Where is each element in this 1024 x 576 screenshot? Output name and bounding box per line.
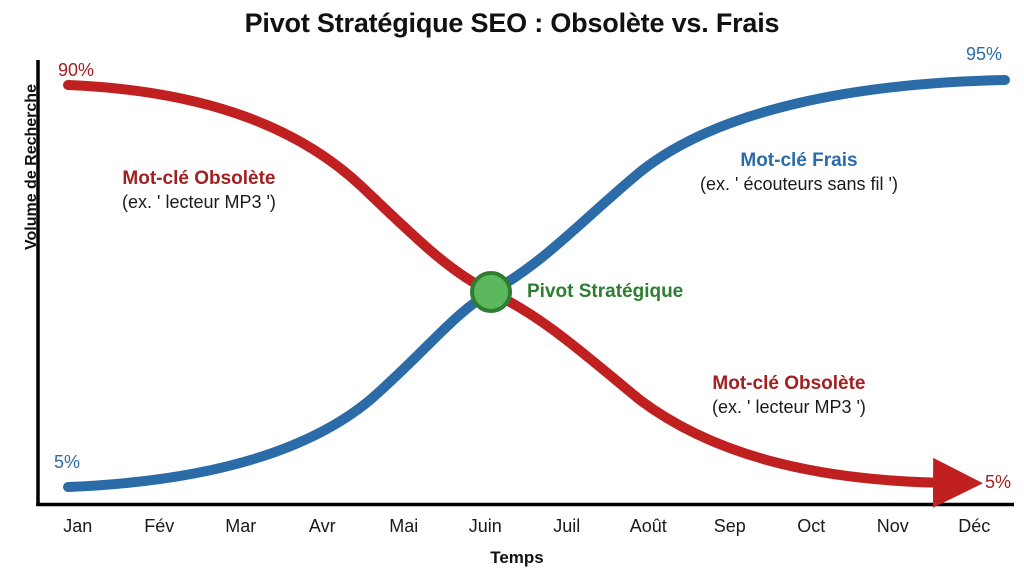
datapoint-label-frais-end: 95% (966, 44, 1002, 65)
x-tick-sep: Sep (689, 516, 771, 542)
annotation-frais-top-right-heading: Mot-clé Frais (700, 150, 898, 172)
x-tick-oct: Oct (771, 516, 853, 542)
x-tick-aout: Août (608, 516, 690, 542)
x-tick-dec: Déc (934, 516, 1016, 542)
x-axis-title: Temps (37, 548, 997, 568)
chart-container: Pivot Stratégique SEO : Obsolète vs. Fra… (0, 0, 1024, 576)
annotation-frais-top-right: Mot-clé Frais (ex. ' écouteurs sans fil … (700, 150, 898, 195)
x-tick-mai: Mai (363, 516, 445, 542)
datapoint-label-frais-start: 5% (54, 452, 80, 473)
annotation-obsolete-bottom-right-example: (ex. ' lecteur MP3 ') (712, 397, 866, 418)
datapoint-label-obsolete-start: 90% (58, 60, 94, 81)
x-tick-fev: Fév (119, 516, 201, 542)
x-tick-juil: Juil (526, 516, 608, 542)
annotation-obsolete-bottom-right: Mot-clé Obsolète (ex. ' lecteur MP3 ') (712, 373, 866, 418)
datapoint-label-obsolete-end: 5% (985, 472, 1011, 493)
annotation-obsolete-top-left-example: (ex. ' lecteur MP3 ') (122, 192, 276, 213)
x-tick-nov: Nov (852, 516, 934, 542)
x-tick-mar: Mar (200, 516, 282, 542)
annotation-obsolete-top-left: Mot-clé Obsolète (ex. ' lecteur MP3 ') (122, 168, 276, 213)
annotation-obsolete-bottom-right-heading: Mot-clé Obsolète (712, 373, 866, 395)
x-axis-tick-labels: Jan Fév Mar Avr Mai Juin Juil Août Sep O… (37, 516, 1015, 542)
x-tick-jan: Jan (37, 516, 119, 542)
x-tick-avr: Avr (282, 516, 364, 542)
pivot-marker[interactable] (472, 273, 510, 311)
x-tick-juin: Juin (445, 516, 527, 542)
annotation-frais-top-right-example: (ex. ' écouteurs sans fil ') (700, 174, 898, 195)
chart-plot-area (0, 0, 1024, 576)
pivot-label: Pivot Stratégique (527, 281, 683, 303)
annotation-obsolete-top-left-heading: Mot-clé Obsolète (122, 168, 276, 190)
